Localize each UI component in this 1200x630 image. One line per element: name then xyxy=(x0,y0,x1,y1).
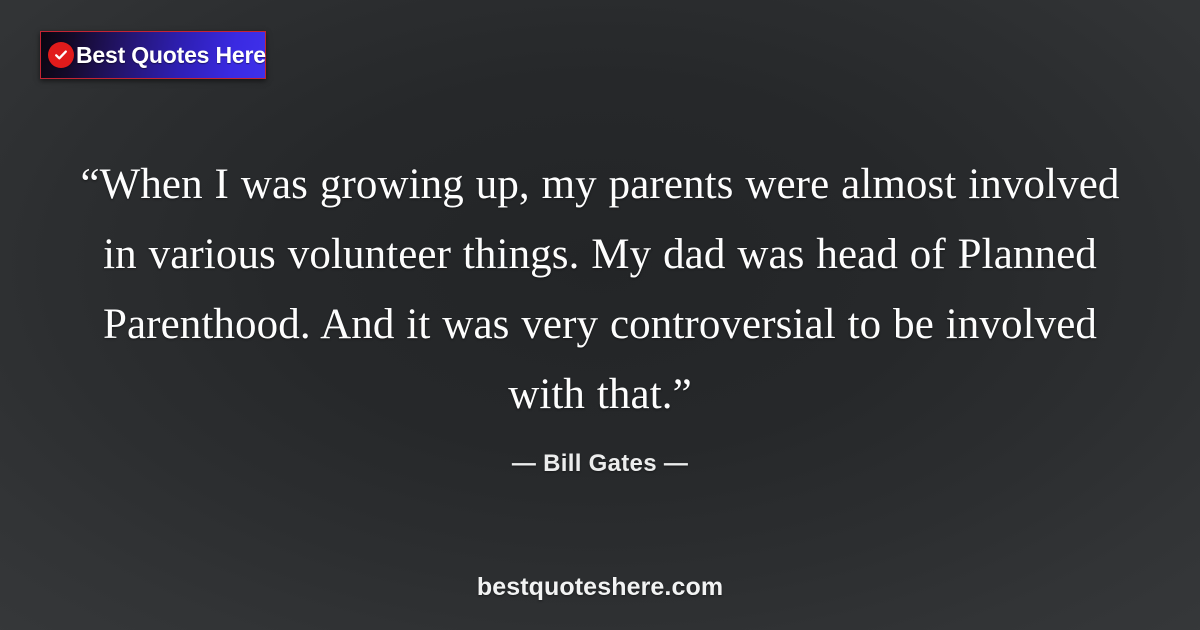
site-url-footer: bestquoteshere.com xyxy=(0,573,1200,602)
check-circle-icon xyxy=(48,42,74,68)
quote-block: “When I was growing up, my parents were … xyxy=(60,150,1140,430)
quote-author: — Bill Gates — xyxy=(0,450,1200,478)
quote-text: “When I was growing up, my parents were … xyxy=(60,150,1140,430)
quote-card: Best Quotes Here “When I was growing up,… xyxy=(0,0,1200,630)
site-logo-badge[interactable]: Best Quotes Here xyxy=(40,31,266,79)
site-logo-text: Best Quotes Here xyxy=(76,44,266,67)
